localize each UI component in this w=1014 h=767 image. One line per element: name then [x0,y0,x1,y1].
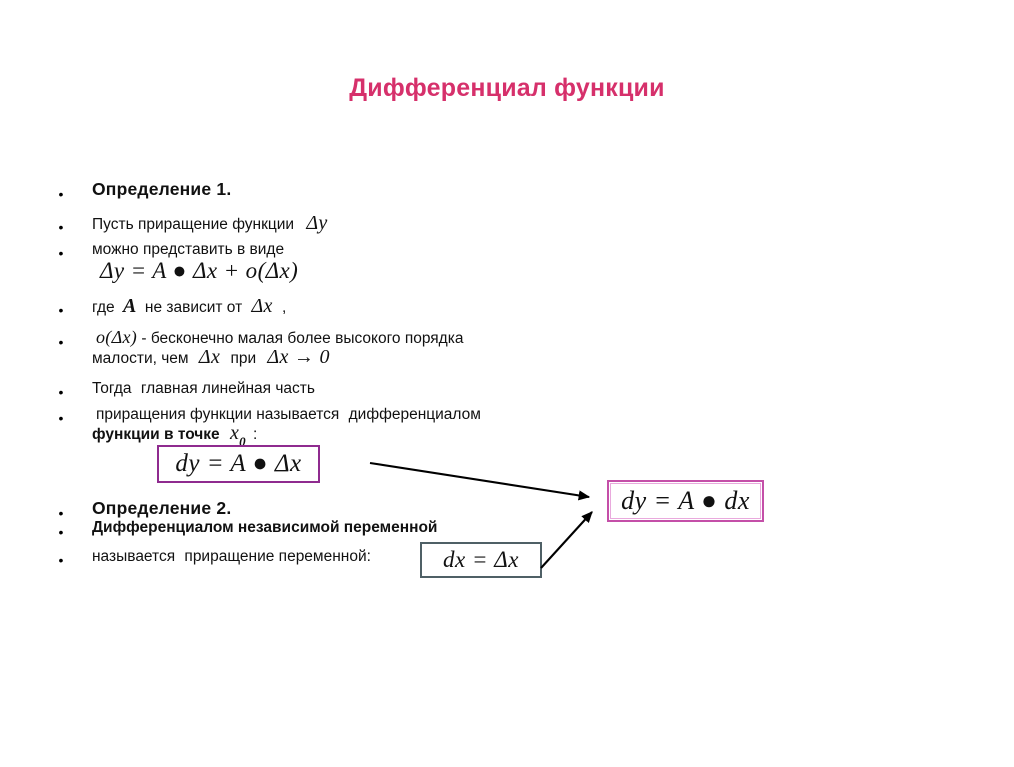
arrow-from-dy-deltax-to-dy-adx [370,463,589,497]
definition-1-line-6-prefix: Тогда [92,380,132,397]
boxed-formula-dy-equals-a-dx: dy = A ● dx [607,480,764,522]
definition-1-line-8-suffix: : [253,426,257,443]
definition-2-line-1: Дифференциалом независимой переменной [92,518,437,537]
math-delta-x: Δx [199,346,220,368]
bullet-marker [56,555,66,565]
definition-1-line-5-mid: при [230,350,256,367]
bullet-marker [56,248,66,258]
definition-1-line-3-prefix: где [92,299,115,316]
definition-2-line-2-prefix: называется [92,548,175,565]
definition-1-line-5-text: малости, чем [92,350,189,367]
bullet-marker [56,413,66,423]
formula-delta-y-expansion: Δy = A ● Δx + o(Δx) [100,258,298,284]
definition-2-line-2-bold: приращение переменной: [184,548,371,565]
math-x-zero: x [230,422,239,444]
definition-1-line-4-text: - бесконечно малая более высокого порядк… [141,330,463,347]
bullet-marker [56,189,66,199]
definition-1-line-7-bold: дифференциалом [349,406,481,423]
math-delta-x-to-zero: Δx → 0 [267,346,329,368]
math-delta-x: Δx [252,295,273,317]
boxed-formula-dx-equals-delta-x: dx = Δx [420,542,542,578]
definition-2-line-2: называется приращение переменной: [92,547,371,566]
definition-1-line-6-bold: главная линейная часть [141,380,315,397]
bullet-marker [56,222,66,232]
bullet-marker [56,508,66,518]
definition-1-line-7: приращения функции называется дифференци… [96,405,481,424]
math-o-delta-x: o(Δx) [96,327,137,347]
page-title: Дифференциал функции [0,74,1014,103]
definition-1-line-2: можно представить в виде [92,240,284,259]
definition-1-line-3-mid: не зависит от [145,299,242,316]
definition-1-line-6: Тогда главная линейная часть [92,379,315,398]
definition-1-line-1-text: Пусть приращение функции [92,216,294,233]
definition-1-line-7-prefix: приращения функции называется [96,406,339,423]
definition-1-line-3: где A не зависит от Δx , [92,297,286,317]
slide-canvas: Дифференциал функции Определение 1. Пуст… [0,0,1014,767]
bullet-marker [56,387,66,397]
definition-1-line-3-suffix: , [282,299,286,316]
math-delta-y: Δy [306,212,327,234]
definition-1-line-8-bold: функции в точке [92,426,220,443]
definition-1-line-4: o(Δx) - бесконечно малая более высокого … [96,328,463,348]
math-A: A [123,295,137,317]
arrow-from-dx-deltax-to-dy-adx [541,512,592,568]
bullet-marker [56,305,66,315]
definition-1-line-5: малости, чем Δx при Δx → 0 [92,348,330,368]
definition-1-heading: Определение 1. [92,180,231,199]
bullet-marker [56,527,66,537]
boxed-formula-dy-equals-a-delta-x: dy = A ● Δx [157,445,320,483]
bullet-marker [56,337,66,347]
definition-2-heading: Определение 2. [92,499,231,518]
definition-1-line-1: Пусть приращение функции Δy [92,214,328,234]
